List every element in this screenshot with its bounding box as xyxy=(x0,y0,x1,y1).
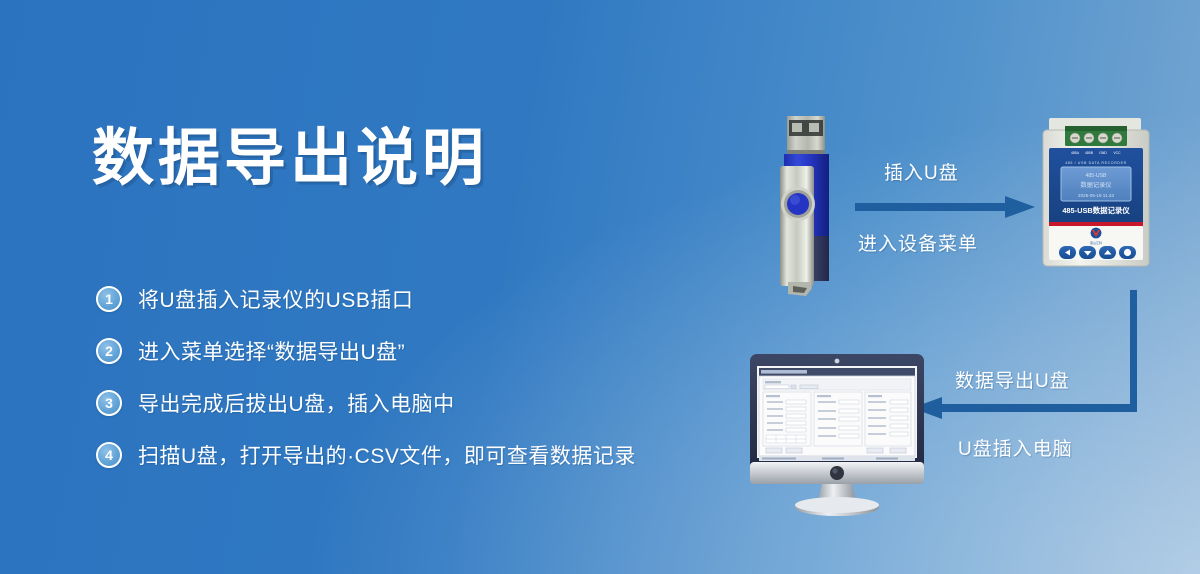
step-badge: 3 xyxy=(96,390,122,416)
step-badge: 1 xyxy=(96,286,122,312)
arrow-label-export-data: 数据导出U盘 xyxy=(955,366,1070,393)
svg-text:485A: 485A xyxy=(1071,151,1080,155)
svg-text:VCC: VCC xyxy=(1113,151,1121,155)
step-text: 将U盘插入记录仪的USB插口 xyxy=(138,284,413,314)
arrow-label-enter-menu: 进入设备菜单 xyxy=(858,229,978,256)
svg-text:485 / USB DATA RECORDER: 485 / USB DATA RECORDER xyxy=(1065,161,1127,165)
data-recorder-device-illustration: 485A485B GNDVCC 485 / USB DATA RECORDER … xyxy=(1035,112,1157,272)
list-item: 2 进入菜单选择“数据导出U盘” xyxy=(96,327,636,375)
poster-canvas: 数据导出说明 1 将U盘插入记录仪的USB插口 2 进入菜单选择“数据导出U盘”… xyxy=(0,0,1200,574)
svg-text:唐山汇科: 唐山汇科 xyxy=(1090,240,1102,245)
arrow-label-insert-usb: 插入U盘 xyxy=(884,158,959,185)
arrow-export-to-pc xyxy=(912,290,1137,420)
step-badge: 2 xyxy=(96,338,122,364)
list-item: 4 扫描U盘，打开导出的·CSV文件，即可查看数据记录 xyxy=(96,431,636,479)
step-text: 进入菜单选择“数据导出U盘” xyxy=(138,336,405,366)
svg-text:485-USB: 485-USB xyxy=(1085,173,1107,179)
svg-text:数据记录仪: 数据记录仪 xyxy=(1081,181,1112,189)
list-item: 1 将U盘插入记录仪的USB插口 xyxy=(96,275,636,323)
svg-text:2025-05-19 11:43: 2025-05-19 11:43 xyxy=(1078,193,1114,198)
svg-text:485-USB数据记录仪: 485-USB数据记录仪 xyxy=(1062,206,1130,215)
step-text: 导出完成后拔出U盘，插入电脑中 xyxy=(138,388,455,418)
arrow-label-usb-to-pc: U盘插入电脑 xyxy=(958,434,1073,461)
step-text: 扫描U盘，打开导出的·CSV文件，即可查看数据记录 xyxy=(138,440,636,470)
computer-monitor-illustration xyxy=(742,352,932,518)
arrow-insert-usb xyxy=(855,196,1035,218)
steps-list: 1 将U盘插入记录仪的USB插口 2 进入菜单选择“数据导出U盘” 3 导出完成… xyxy=(96,275,636,483)
list-item: 3 导出完成后拔出U盘，插入电脑中 xyxy=(96,379,636,427)
svg-text:GND: GND xyxy=(1099,151,1107,155)
page-title: 数据导出说明 xyxy=(92,128,488,190)
usb-flash-drive-illustration xyxy=(762,106,850,304)
step-badge: 4 xyxy=(96,442,122,468)
svg-text:485B: 485B xyxy=(1085,151,1094,155)
